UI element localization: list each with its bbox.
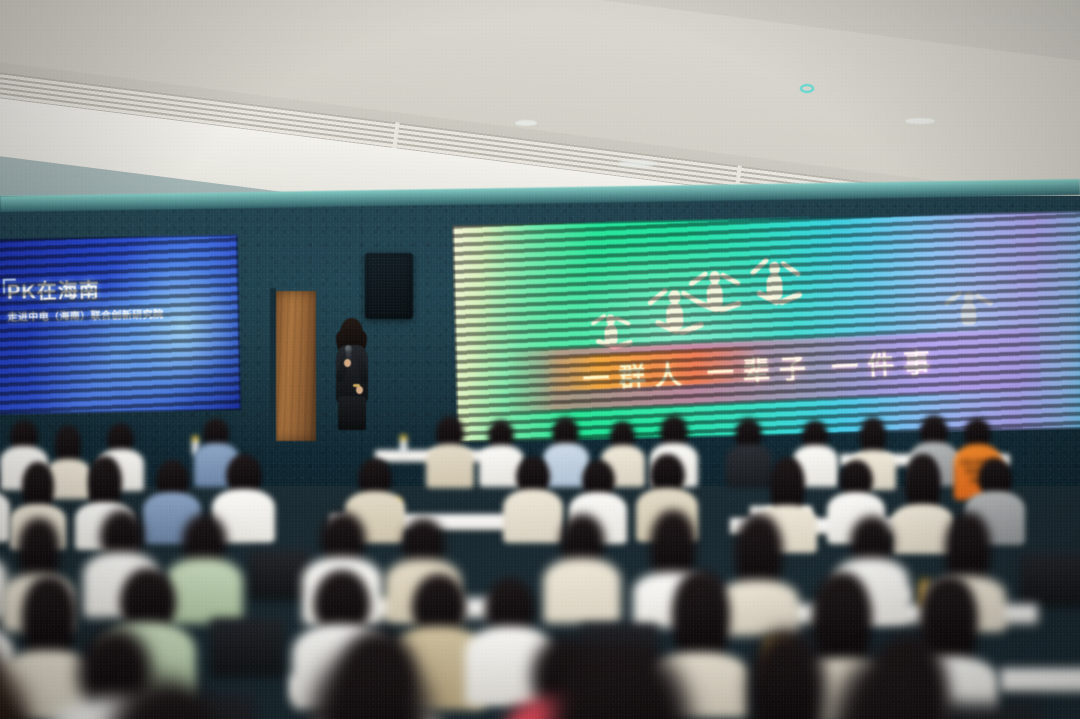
presenter-glasses-icon: [344, 330, 360, 334]
conference-hall-photo: PK在海南 走进中电（海南）联合创新研究院: [0, 0, 1080, 719]
wall-speaker: [365, 253, 413, 319]
chair: [1020, 554, 1080, 606]
ceiling-light-spot: [905, 118, 935, 124]
left-screen-title: PK在海南: [7, 279, 222, 303]
water-bottle: [400, 435, 407, 454]
ceiling-light-spot: [618, 160, 656, 167]
audience-area: CELEBRA FERRA ORD: [0, 360, 1080, 719]
chair: [940, 704, 1040, 719]
jumping-figure-icon: [961, 302, 977, 325]
microphone-head-icon: [345, 345, 353, 353]
left-screen-text-block: PK在海南 走进中电（海南）联合创新研究院: [7, 279, 223, 324]
chair: [248, 550, 310, 600]
chair: [210, 618, 284, 676]
table: [1000, 668, 1080, 692]
ceiling-light-spot: [515, 120, 537, 126]
ceiling-teal-light-icon: [800, 84, 814, 93]
